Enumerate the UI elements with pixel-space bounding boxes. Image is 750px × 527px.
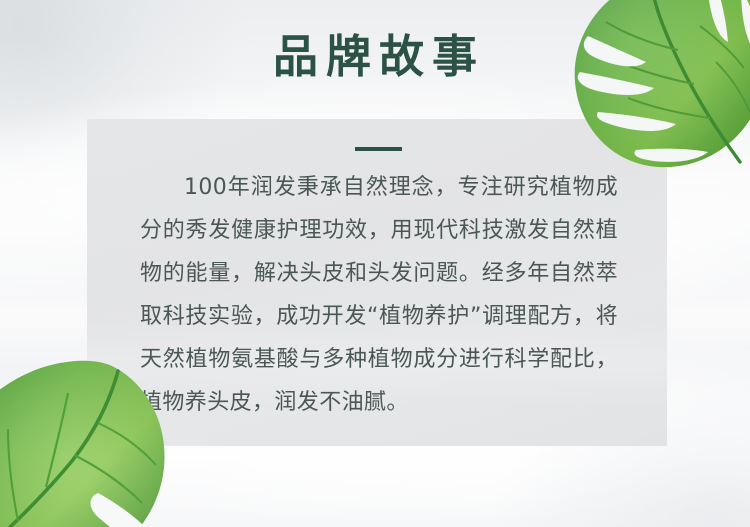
title-divider xyxy=(355,147,402,151)
brand-story-paragraph: 100年润发秉承自然理念，专注研究植物成分的秀发健康护理功效，用现代科技激发自然… xyxy=(140,166,618,424)
brand-story-banner: 品牌故事 100年润发秉承自然理念，专注研究植物成分的秀发健康护理功效，用现代科… xyxy=(0,0,750,527)
page-title: 品牌故事 xyxy=(0,30,750,84)
brand-story-text: 100年润发秉承自然理念，专注研究植物成分的秀发健康护理功效，用现代科技激发自然… xyxy=(140,166,618,424)
